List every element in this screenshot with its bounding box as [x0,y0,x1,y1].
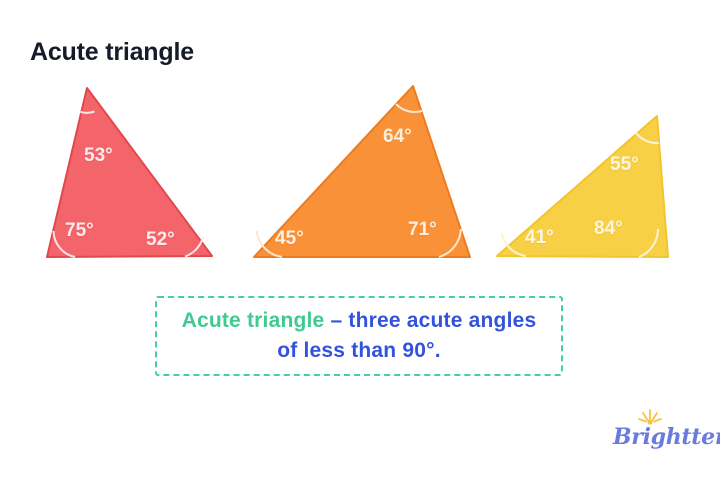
definition-term: Acute triangle [182,309,325,332]
angle-label-bottom-left: 75° [65,220,94,242]
angle-label-bottom-right: 84° [594,218,623,240]
angle-label-apex: 55° [610,154,639,176]
angle-label-bottom-right: 71° [408,219,437,241]
page-title: Acute triangle [30,38,194,67]
triangle-yellow-polygon [497,116,668,257]
triangle-yellow: 55° 41° 84° [492,110,677,262]
triangle-orange: 64° 45° 71° [250,80,480,264]
angle-label-bottom-left: 41° [525,227,554,249]
triangle-red: 53° 75° 52° [36,82,221,264]
triangle-yellow-shape [492,110,677,262]
brand-logo[interactable]: Brightterly [613,408,705,452]
logo-wordmark: Brightterly [613,424,720,450]
definition-text: Acute triangle – three acute angles of l… [157,306,561,366]
triangle-red-shape [36,82,221,264]
angle-label-bottom-left: 45° [275,228,304,250]
lesson-illustration: Acute triangle 53° 75° 52° 64° 45° 71° [0,0,720,480]
angle-label-apex: 64° [383,126,412,148]
angle-label-apex: 53° [84,145,113,167]
angle-label-bottom-right: 52° [146,229,175,251]
definition-callout: Acute triangle – three acute angles of l… [155,296,563,376]
